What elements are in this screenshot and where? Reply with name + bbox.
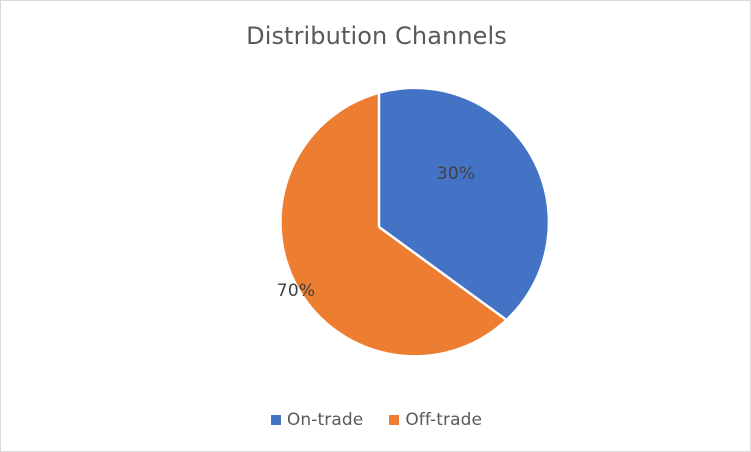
plot-area: 30% 70% bbox=[1, 1, 751, 452]
legend-item-label: Off-trade bbox=[405, 410, 482, 430]
slice-label-off-trade: 70% bbox=[277, 281, 315, 301]
slice-label-on-trade: 30% bbox=[437, 164, 475, 184]
square-marker-icon bbox=[271, 415, 281, 425]
legend-item-off-trade[interactable]: Off-trade bbox=[389, 410, 482, 430]
chart-legend: On-trade Off-trade bbox=[1, 410, 751, 430]
legend-item-on-trade[interactable]: On-trade bbox=[271, 410, 363, 430]
square-marker-icon bbox=[389, 415, 399, 425]
pie-graphic bbox=[1, 1, 751, 452]
legend-item-label: On-trade bbox=[287, 410, 363, 430]
pie-chart-container: Distribution Channels 30% 70% On-trade O… bbox=[0, 0, 751, 452]
